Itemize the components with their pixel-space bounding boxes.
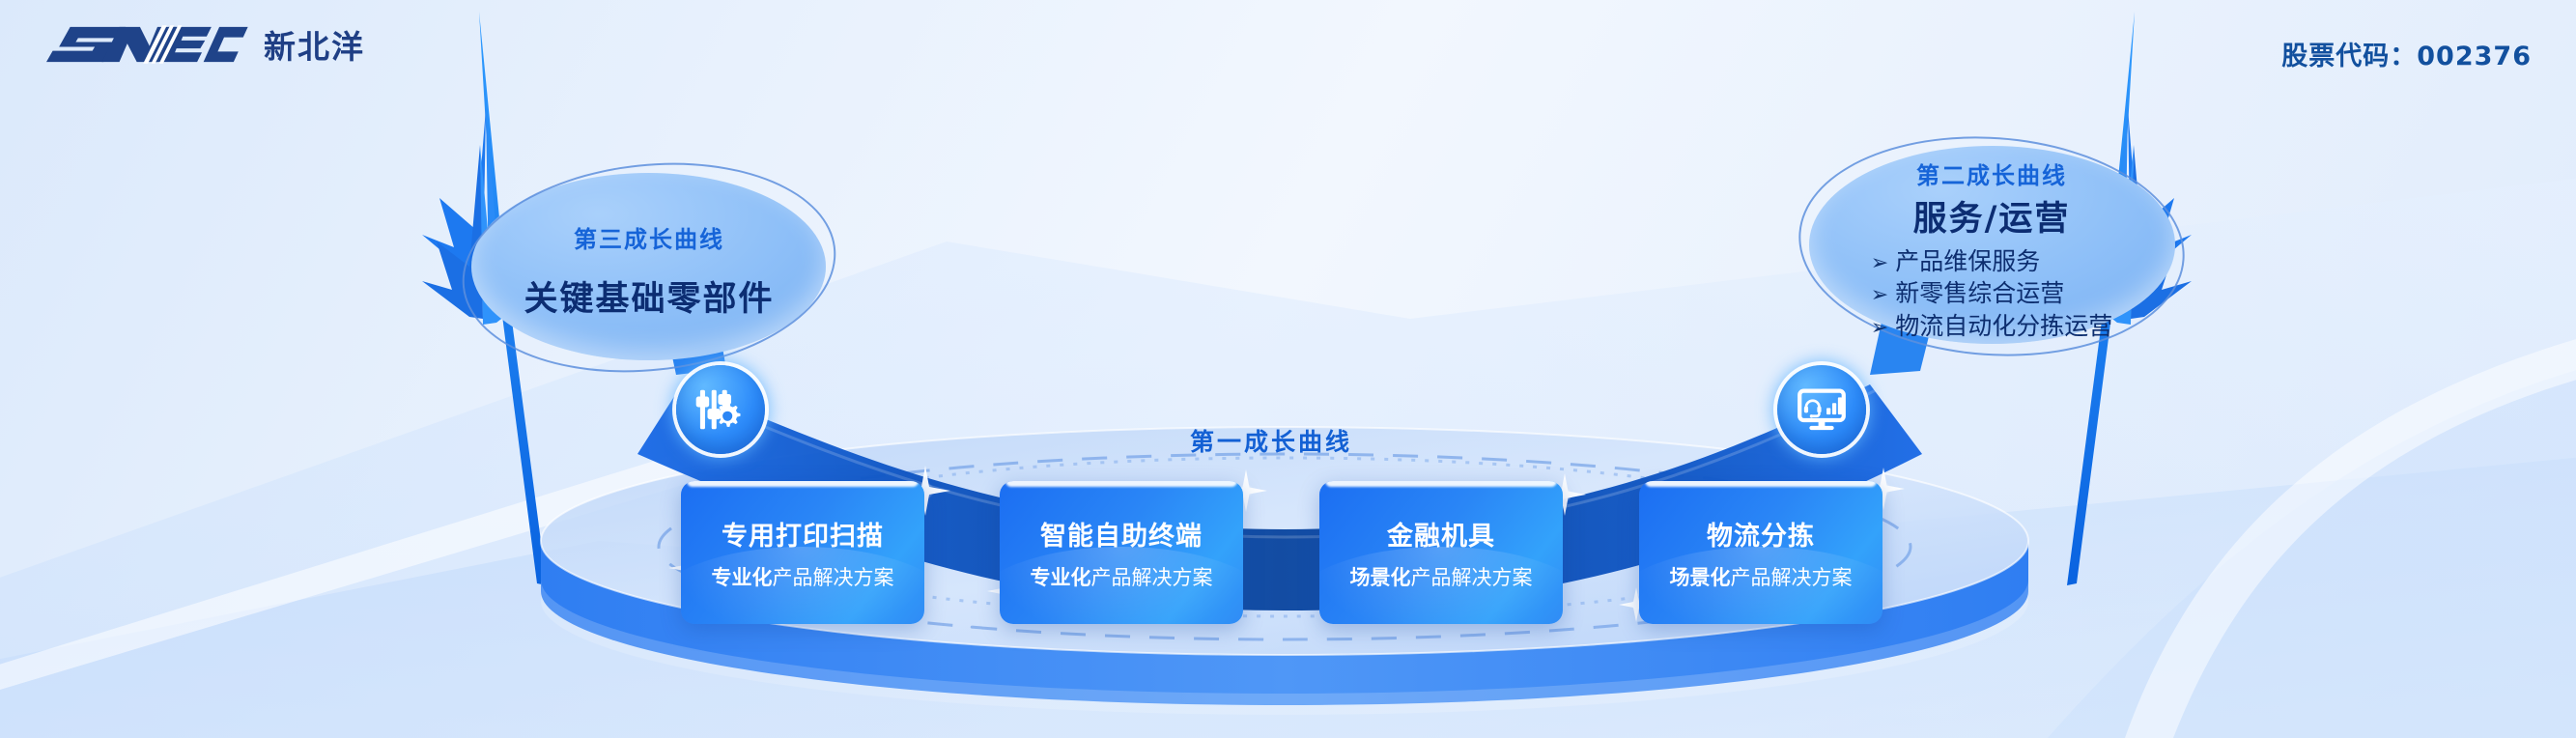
arrow-bullet-icon: ➢ bbox=[1871, 281, 1888, 309]
card-title: 物流分拣 bbox=[1707, 515, 1815, 553]
monitor-headset-chart-icon[interactable] bbox=[1777, 365, 1866, 454]
infographic-canvas: 新北洋 股票代码：002376 第三成长曲线 关键基础零部件 第二成长曲线 服务… bbox=[0, 0, 2576, 738]
curve-three-kicker: 第三成长曲线 bbox=[574, 220, 724, 254]
background-artwork bbox=[0, 0, 2576, 738]
card-subtitle-rest: 产品解决方案 bbox=[1411, 566, 1533, 589]
growth-curve-one-label: 第一成长曲线 bbox=[1190, 423, 1352, 458]
card-subtitle-rest: 产品解决方案 bbox=[1731, 566, 1853, 589]
list-item-label: 产品维保服务 bbox=[1895, 245, 2040, 277]
card-title: 金融机具 bbox=[1387, 515, 1495, 553]
card-subtitle-strong: 专业化 bbox=[1031, 566, 1091, 589]
curve-three-title: 关键基础零部件 bbox=[524, 271, 774, 321]
curve-two-kicker: 第二成长曲线 bbox=[1916, 156, 2067, 190]
list-item: ➢ 物流自动化分拣运营 bbox=[1871, 310, 2112, 342]
list-item-label: 新零售综合运营 bbox=[1895, 277, 2064, 309]
card-subtitle: 专业化产品解决方案 bbox=[712, 562, 894, 591]
product-card[interactable]: 金融机具 场景化产品解决方案 bbox=[1319, 481, 1563, 624]
growth-curve-two-bubble[interactable]: 第二成长曲线 服务/运营 ➢ 产品维保服务 ➢ 新零售综合运营 ➢ 物流自动化分… bbox=[1798, 137, 2185, 355]
card-title: 智能自助终端 bbox=[1040, 515, 1203, 553]
growth-curve-three-bubble[interactable]: 第三成长曲线 关键基础零部件 bbox=[462, 164, 836, 371]
arrow-bullet-icon: ➢ bbox=[1871, 249, 1888, 277]
stock-code: 股票代码：002376 bbox=[2281, 35, 2532, 72]
product-card[interactable]: 物流分拣 场景化产品解决方案 bbox=[1639, 481, 1882, 624]
card-subtitle: 场景化产品解决方案 bbox=[1670, 562, 1853, 591]
card-subtitle-strong: 专业化 bbox=[712, 566, 773, 589]
card-subtitle-rest: 产品解决方案 bbox=[1091, 566, 1213, 589]
card-subtitle: 专业化产品解决方案 bbox=[1031, 562, 1213, 591]
product-card[interactable]: 专用打印扫描 专业化产品解决方案 bbox=[681, 481, 924, 624]
list-item: ➢ 产品维保服务 bbox=[1871, 245, 2112, 277]
curve-two-title: 服务/运营 bbox=[1913, 191, 2071, 241]
list-item: ➢ 新零售综合运营 bbox=[1871, 277, 2112, 309]
sliders-gear-glyph bbox=[694, 383, 747, 436]
snbc-logo-icon bbox=[42, 22, 250, 67]
brand-logo: 新北洋 bbox=[42, 21, 365, 68]
curve-two-bullet-list: ➢ 产品维保服务 ➢ 新零售综合运营 ➢ 物流自动化分拣运营 bbox=[1871, 245, 2112, 341]
card-subtitle: 场景化产品解决方案 bbox=[1350, 562, 1533, 591]
brand-name-cn: 新北洋 bbox=[264, 21, 365, 68]
monitor-analytics-glyph bbox=[1796, 383, 1848, 436]
card-subtitle-rest: 产品解决方案 bbox=[773, 566, 894, 589]
card-subtitle-strong: 场景化 bbox=[1670, 566, 1731, 589]
sliders-gear-icon[interactable] bbox=[676, 365, 765, 454]
card-title: 专用打印扫描 bbox=[722, 515, 884, 553]
bubble-content: 第三成长曲线 关键基础零部件 bbox=[462, 164, 836, 371]
list-item-label: 物流自动化分拣运营 bbox=[1895, 310, 2112, 342]
product-card[interactable]: 智能自助终端 专业化产品解决方案 bbox=[1000, 481, 1243, 624]
bubble-content: 第二成长曲线 服务/运营 ➢ 产品维保服务 ➢ 新零售综合运营 ➢ 物流自动化分… bbox=[1798, 137, 2185, 355]
arrow-bullet-icon: ➢ bbox=[1871, 314, 1888, 342]
card-subtitle-strong: 场景化 bbox=[1350, 566, 1411, 589]
